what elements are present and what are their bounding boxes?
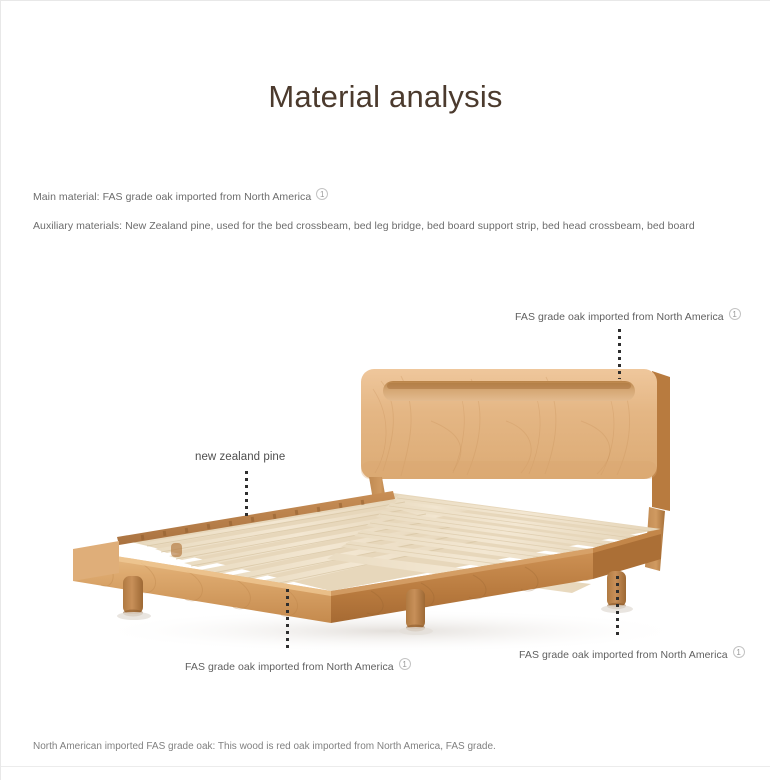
annotation-leg-oak-label: FAS grade oak imported from North Americ… (519, 649, 728, 661)
leader-line-side-rail-oak (286, 589, 289, 651)
annotation-headboard-oak-label: FAS grade oak imported from North Americ… (515, 311, 724, 323)
content-card: Material analysis Main material: FAS gra… (1, 1, 770, 767)
page-title: Material analysis (1, 79, 770, 115)
material-analysis-page: Material analysis Main material: FAS gra… (0, 0, 770, 780)
footnote-marker-icon: 1 (399, 658, 411, 670)
annotation-side-rail-oak: FAS grade oak imported from North Americ… (185, 658, 411, 673)
intro-main-material: Main material: FAS grade oak imported fr… (33, 188, 328, 203)
annotation-slats-pine: new zealand pine (195, 451, 285, 463)
footnote-text: North American imported FAS grade oak: T… (33, 741, 496, 752)
footnote-marker-icon: 1 (316, 188, 328, 200)
footnote-marker-icon: 1 (729, 308, 741, 320)
leader-line-leg-oak (616, 576, 619, 638)
intro-main-material-text: Main material: FAS grade oak imported fr… (33, 191, 311, 203)
leader-line-slats-pine (245, 471, 248, 517)
annotation-leg-oak: FAS grade oak imported from North Americ… (519, 646, 745, 661)
product-illustration (1, 271, 770, 691)
footnote-marker-icon: 1 (733, 646, 745, 658)
annotation-headboard-oak: FAS grade oak imported from North Americ… (515, 308, 741, 323)
annotation-side-rail-oak-label: FAS grade oak imported from North Americ… (185, 661, 394, 673)
intro-auxiliary-materials: Auxiliary materials: New Zealand pine, u… (33, 220, 695, 232)
leader-line-headboard-oak (618, 329, 621, 379)
